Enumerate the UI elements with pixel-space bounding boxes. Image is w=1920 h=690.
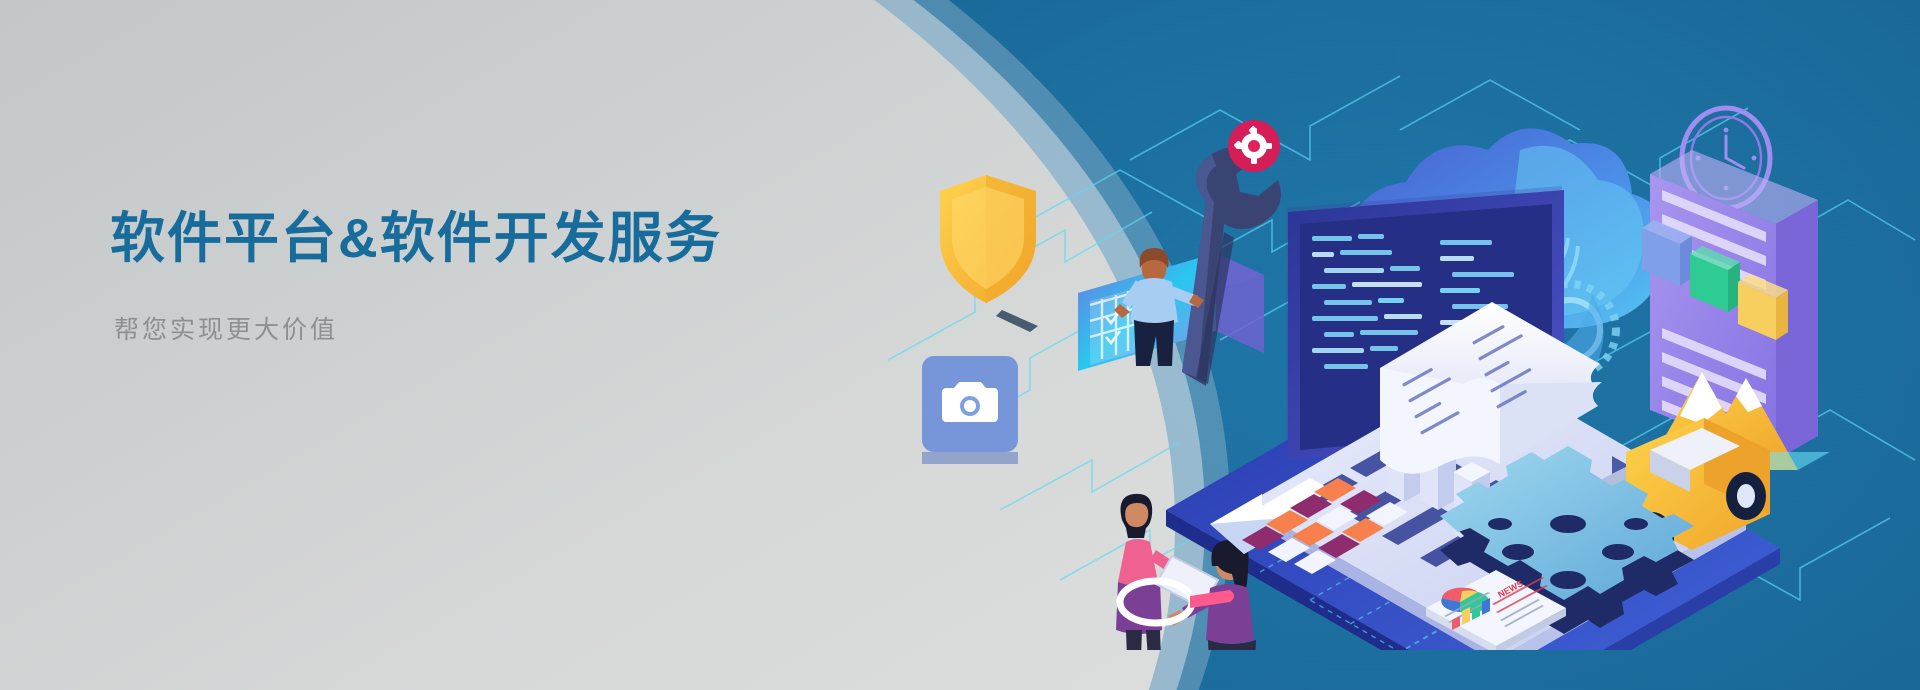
camera-icon-tile bbox=[922, 356, 1018, 464]
security-shield-icon bbox=[940, 175, 1036, 303]
stylus-icon bbox=[996, 310, 1038, 332]
hero-copy: 软件平台&软件开发服务 帮您实现更大价值 bbox=[110, 206, 870, 345]
page-subtitle: 帮您实现更大价值 bbox=[114, 315, 870, 345]
hero-illustration: NEWS bbox=[880, 40, 1920, 650]
hero-banner: 软件平台&软件开发服务 帮您实现更大价值 bbox=[0, 0, 1920, 690]
page-title: 软件平台&软件开发服务 bbox=[110, 206, 870, 271]
settings-gear-badge-icon bbox=[1228, 120, 1280, 172]
